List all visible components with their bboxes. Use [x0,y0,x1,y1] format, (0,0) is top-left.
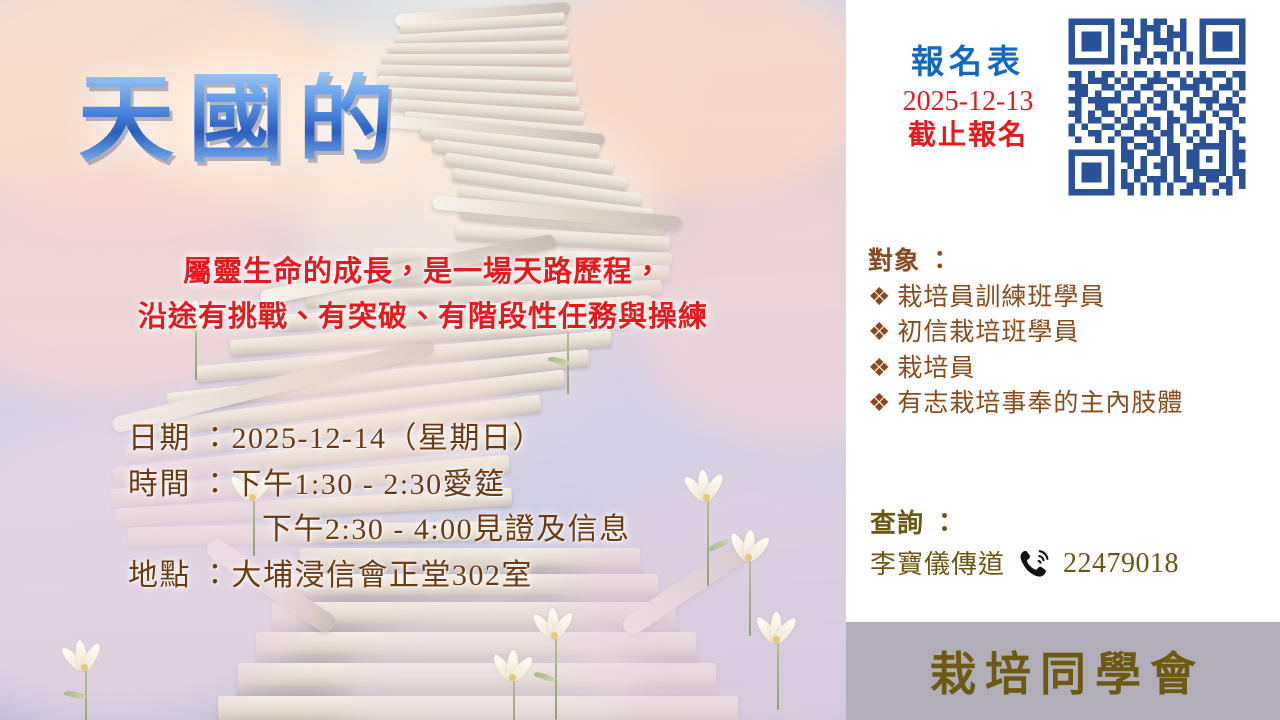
poster-root: 天國的階梯 屬靈生命的成長，是一場天路歷程， 沿途有挑戰、有突破、有階段性任務與… [0,0,1280,720]
detail-row-time: 時間 ：下午1:30 - 2:30愛筵 [128,462,631,508]
audience-item-label: 初信栽培班學員 [897,319,1079,346]
audience-item: ❖有志栽培事奉的主內肢體 [868,386,1183,422]
audience-item: ❖初信栽培班學員 [868,315,1183,351]
audience-item-label: 栽培員訓練班學員 [897,284,1105,311]
stairway-artwork: 天國的階梯 屬靈生命的成長，是一場天路歷程， 沿途有挑戰、有突破、有階段性任務與… [0,0,846,720]
diamond-bullet-icon: ❖ [868,355,891,382]
diamond-bullet-icon: ❖ [868,284,891,311]
date-value: 2025-12-14（星期日） [232,422,544,455]
page-title: 天國的階梯 [78,72,768,168]
info-panel: 報名表 2025-12-13 截止報名 [846,0,1280,622]
audience-block: 對象 ： ❖栽培員訓練班學員 ❖初信栽培班學員 ❖栽培員 ❖有志栽培事奉的主內肢… [868,244,1183,422]
detail-row-time-2: 下午2:30 - 4:00見證及信息 [128,507,631,553]
audience-item-label: 栽培員 [897,355,975,382]
signup-deadline-label: 截止報名 [862,119,1074,152]
date-label: 日期 ： [128,422,232,455]
diamond-bullet-icon: ❖ [868,319,891,346]
signup-title: 報名表 [862,44,1074,83]
organizer-name: 栽培同學會 [921,638,1205,704]
event-details: 日期 ：2025-12-14（星期日） 時間 ：下午1:30 - 2:30愛筵 … [128,416,631,598]
venue-label: 地點 ： [128,559,232,592]
contact-block: 查詢 ： 李寶儀傳道 22479018 [870,504,1179,585]
audience-heading: 對象 ： [868,244,1183,280]
time-label: 時間 ： [128,468,232,501]
contact-person: 李寶儀傳道 [870,545,1005,584]
subtitle: 屬靈生命的成長，是一場天路歷程， 沿途有挑戰、有突破、有階段性任務與操練 [0,250,846,340]
contact-phone[interactable]: 22479018 [1063,543,1179,585]
contact-line: 李寶儀傳道 22479018 [870,543,1179,585]
detail-row-venue: 地點 ：大埔浸信會正堂302室 [128,553,631,599]
subtitle-line-1: 屬靈生命的成長，是一場天路歷程， [0,250,846,295]
title-lead: 天國的 [78,66,408,173]
subtitle-line-2: 沿途有挑戰、有突破、有階段性任務與操練 [0,295,846,340]
title-tail: 階梯 [402,51,632,173]
contact-heading: 查詢 ： [870,504,1179,543]
phone-icon [1017,549,1051,579]
audience-item: ❖栽培員訓練班學員 [868,280,1183,316]
audience-item-label: 有志栽培事奉的主內肢體 [897,390,1183,417]
audience-item: ❖栽培員 [868,351,1183,387]
qr-code-icon[interactable] [1062,12,1252,202]
detail-row-date: 日期 ：2025-12-14（星期日） [128,416,631,462]
diamond-bullet-icon: ❖ [868,390,891,417]
time-value-1: 下午1:30 - 2:30愛筵 [232,468,506,501]
signup-block: 報名表 2025-12-13 截止報名 [862,44,1074,152]
venue-value: 大埔浸信會正堂302室 [232,559,534,592]
footer-band: 栽培同學會 [846,622,1280,720]
signup-deadline-date: 2025-12-13 [862,85,1074,118]
time-value-2: 下午2:30 - 4:00見證及信息 [262,513,631,546]
